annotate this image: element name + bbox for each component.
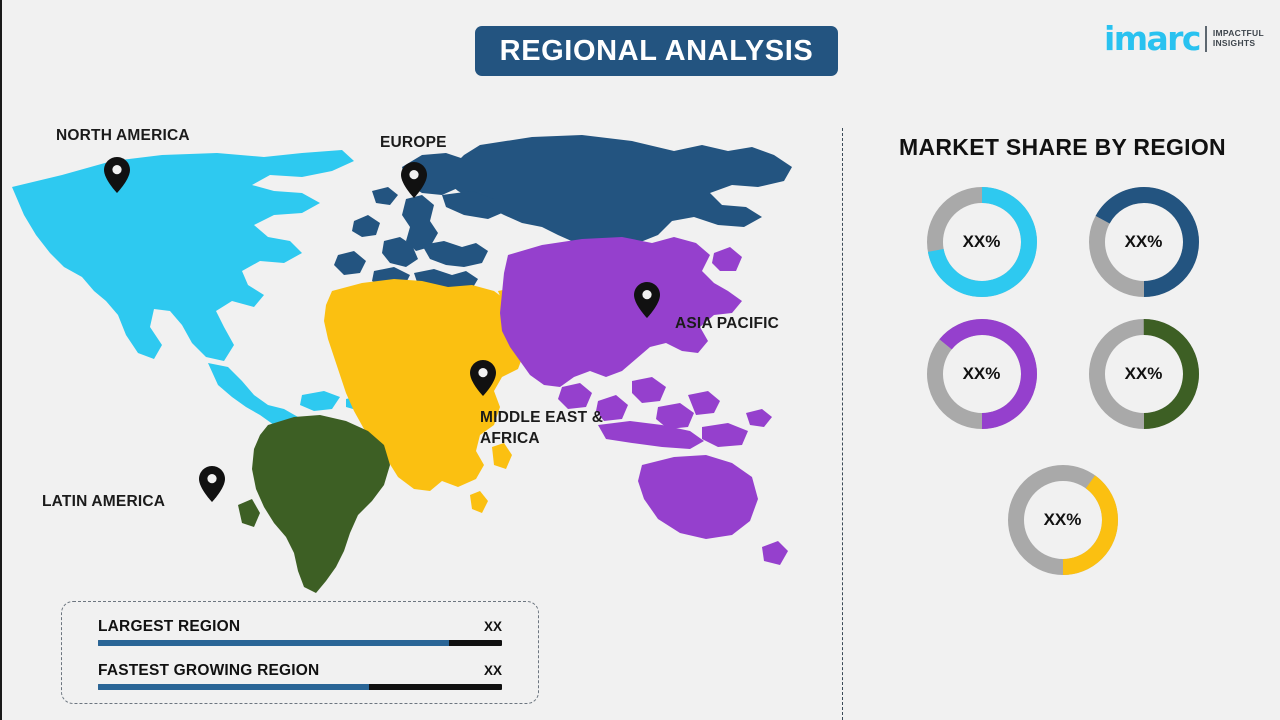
donut-last-row: XX% xyxy=(871,445,1254,581)
donut-label-asia-pacific: XX% xyxy=(921,313,1043,435)
logo-tagline-line2: INSIGHTS xyxy=(1213,38,1256,48)
map-label-north-america: NORTH AMERICA xyxy=(56,126,190,147)
page-title-banner: REGIONAL ANALYSIS xyxy=(475,26,838,76)
map-pin-north-america[interactable] xyxy=(104,157,130,193)
logo-tagline: IMPACTFUL INSIGHTS xyxy=(1213,29,1264,49)
legend-row-largest-region: LARGEST REGION XX xyxy=(98,618,502,646)
logo-tagline-line1: IMPACTFUL xyxy=(1213,28,1264,38)
page-title: REGIONAL ANALYSIS xyxy=(500,35,814,68)
donut-chart-grid: XX% XX% XX% XX xyxy=(843,181,1280,581)
donut-label-middle-east-africa: XX% xyxy=(1002,459,1124,581)
map-label-middle-east-africa: MIDDLE EAST & AFRICA xyxy=(480,408,603,450)
donut-label-latin-america: XX% xyxy=(1083,313,1205,435)
legend-label-fastest-growing-region: FASTEST GROWING REGION xyxy=(98,662,319,680)
legend-value-fastest-growing-region: XX xyxy=(484,663,502,678)
market-share-panel: MARKET SHARE BY REGION XX% XX% xyxy=(843,120,1280,720)
legend-bar-fill-largest-region xyxy=(98,640,449,646)
donut-asia-pacific: XX% xyxy=(921,313,1043,435)
map-label-asia-pacific: ASIA PACIFIC xyxy=(675,314,779,335)
donut-middle-east-africa: XX% xyxy=(1002,459,1124,581)
donut-latin-america: XX% xyxy=(1083,313,1205,435)
donut-north-america: XX% xyxy=(921,181,1043,303)
legend-row-fastest-growing-region: FASTEST GROWING REGION XX xyxy=(98,662,502,690)
market-share-title: MARKET SHARE BY REGION xyxy=(843,134,1280,161)
map-pin-middle-east-africa[interactable] xyxy=(470,360,496,396)
legend-value-largest-region: XX xyxy=(484,619,502,634)
map-pin-latin-america[interactable] xyxy=(199,466,225,502)
brand-logo: imarc IMPACTFUL INSIGHTS xyxy=(1104,22,1264,55)
region-summary-legend: LARGEST REGION XX FASTEST GROWING REGION… xyxy=(61,601,539,704)
legend-bar-largest-region xyxy=(98,640,502,646)
logo-wordmark: imarc xyxy=(1104,22,1200,55)
map-region-latin-america xyxy=(238,415,390,593)
infographic-canvas: REGIONAL ANALYSIS imarc IMPACTFUL INSIGH… xyxy=(0,0,1280,720)
legend-bar-fill-fastest-growing-region xyxy=(98,684,369,690)
map-label-europe: EUROPE xyxy=(380,133,447,154)
legend-bar-fastest-growing-region xyxy=(98,684,502,690)
donut-europe: XX% xyxy=(1083,181,1205,303)
donut-label-north-america: XX% xyxy=(921,181,1043,303)
map-pin-asia-pacific[interactable] xyxy=(634,282,660,318)
logo-divider xyxy=(1205,26,1207,52)
legend-label-largest-region: LARGEST REGION xyxy=(98,618,240,636)
map-pin-europe[interactable] xyxy=(401,162,427,198)
map-label-latin-america: LATIN AMERICA xyxy=(42,492,165,513)
donut-label-europe: XX% xyxy=(1083,181,1205,303)
